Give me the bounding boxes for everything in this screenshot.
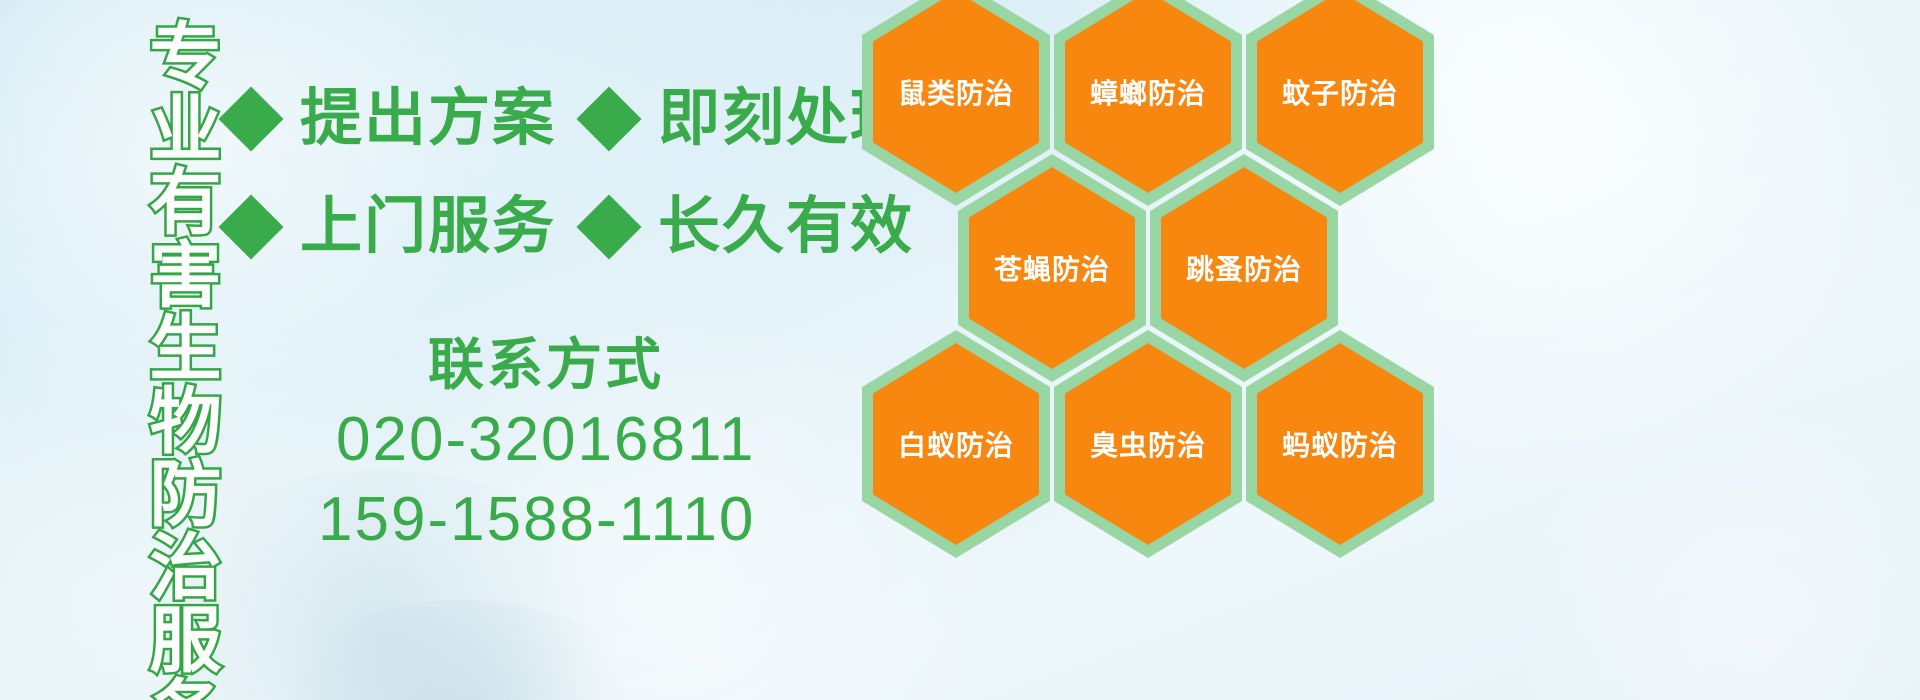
diamond-bullet-icon (576, 194, 641, 259)
service-label: 蟑螂防治 (1090, 72, 1206, 112)
background-glow-lower-center (250, 600, 670, 700)
service-label: 蚂蚁防治 (1282, 424, 1398, 464)
diamond-bullet-icon (218, 86, 283, 151)
hex-inner: 跳蚤防治 (1161, 167, 1327, 369)
feature-label-propose-plan: 提出方案 (300, 88, 556, 150)
service-hex-termite[interactable]: 白蚁防治 (862, 330, 1050, 558)
service-label: 鼠类防治 (898, 72, 1014, 112)
hex-inner: 鼠类防治 (873, 0, 1039, 193)
diamond-bullet-icon (218, 194, 283, 259)
hex-inner: 蚊子防治 (1257, 0, 1423, 193)
hex-inner: 白蚁防治 (873, 343, 1039, 545)
hex-inner: 蚂蚁防治 (1257, 343, 1423, 545)
service-label: 白蚁防治 (898, 424, 1014, 464)
hex-inner: 臭虫防治 (1065, 343, 1231, 545)
service-label: 苍蝇防治 (994, 248, 1110, 288)
contact-title: 联系方式 (428, 320, 664, 401)
service-label: 臭虫防治 (1090, 424, 1206, 464)
contact-phone-mobile[interactable]: 159-1588-1110 (318, 484, 755, 555)
contact-phone-landline[interactable]: 020-32016811 (336, 404, 755, 475)
service-label: 蚊子防治 (1282, 72, 1398, 112)
feature-row-2: 上门服务 长久有效 (228, 196, 920, 258)
pest-control-banner: 专业有害生物防治服务 提出方案 即刻处理 上门服务 长久有效 联系方式 020-… (0, 0, 1920, 700)
feature-row-1: 提出方案 即刻处理 (228, 88, 920, 150)
hex-inner: 苍蝇防治 (969, 167, 1135, 369)
service-honeycomb: 鼠类防治 蟑螂防治 蚊子防治 苍蝇防治 跳蚤防治 白蚁防治 (856, 0, 1476, 700)
vertical-headline: 专业有害生物防治服务 (104, 18, 214, 700)
service-label: 跳蚤防治 (1186, 248, 1302, 288)
service-hex-fly[interactable]: 苍蝇防治 (958, 154, 1146, 382)
service-hex-bedbug[interactable]: 臭虫防治 (1054, 330, 1242, 558)
feature-label-door-to-door-service: 上门服务 (300, 196, 556, 258)
service-hex-flea[interactable]: 跳蚤防治 (1150, 154, 1338, 382)
service-hex-ant[interactable]: 蚂蚁防治 (1246, 330, 1434, 558)
diamond-bullet-icon (576, 86, 641, 151)
hex-inner: 蟑螂防治 (1065, 0, 1231, 193)
background-glow-bottom-right (1480, 420, 1920, 700)
